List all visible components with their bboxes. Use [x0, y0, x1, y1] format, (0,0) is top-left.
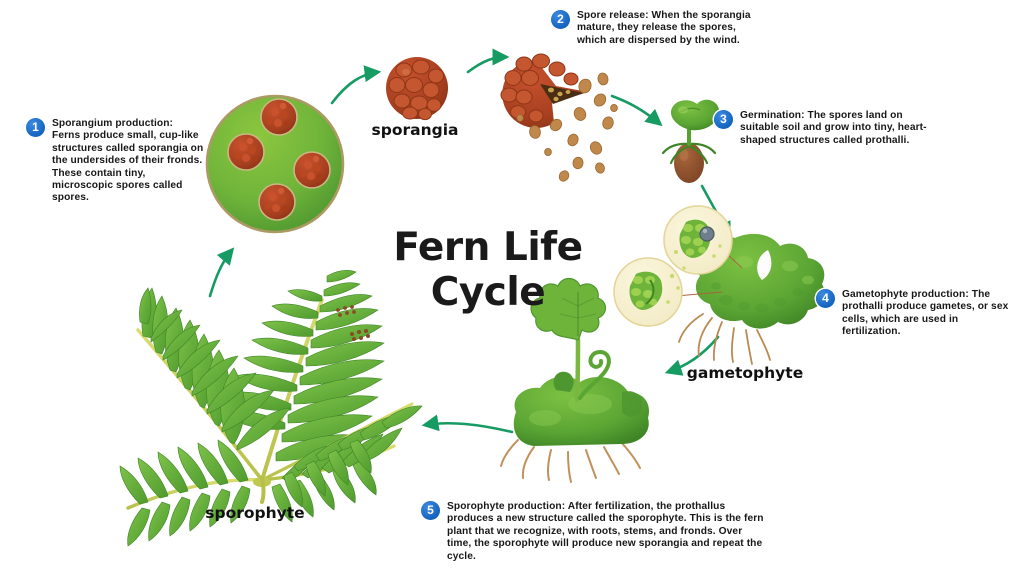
step-text-5: Sporophyte production: After fertilizati…: [447, 501, 765, 563]
step-badge-5: 5: [421, 501, 440, 520]
step-badge-3: 3: [714, 110, 733, 129]
sporangium-open-releasing-spores: [501, 54, 617, 183]
gamete-cell-inset-archegonium: [664, 206, 732, 274]
step-callout-3: 3 Germination: The spores land on suitab…: [714, 110, 936, 147]
page-title: Fern Life Cycle: [343, 225, 633, 315]
arrow-frond-to-sporangia: [332, 72, 378, 103]
sorus-cluster: [261, 99, 297, 135]
arrow-sporangia-to-release: [468, 57, 506, 72]
label-gametophyte: gametophyte: [675, 364, 815, 382]
step-text-2: Spore release: When the sporangia mature…: [577, 10, 765, 47]
sporangium-closed: [386, 57, 448, 120]
frond-underside-magnified: [207, 96, 343, 234]
arrow-fern-to-frond: [210, 250, 232, 296]
step-callout-1: 1 Sporangium production: Ferns produce s…: [26, 118, 208, 205]
step-text-1: Sporangium production: Ferns produce sma…: [52, 118, 204, 205]
step-badge-2: 2: [551, 10, 570, 29]
arrow-sporophyte-to-fern: [425, 423, 512, 432]
label-sporangia: sporangia: [355, 121, 475, 139]
sorus-cluster: [294, 152, 330, 188]
frond: [120, 440, 262, 546]
germinating-spore: [663, 100, 719, 183]
step-callout-4: 4 Gametophyte production: The prothalli …: [816, 289, 1016, 339]
step-text-3: Germination: The spores land on suitable…: [740, 110, 936, 147]
sorus-cluster: [228, 134, 264, 170]
fern-life-cycle-diagram: Fern Life Cycle sporangia gametophyte sp…: [0, 0, 1024, 568]
step-text-4: Gametophyte production: The prothalli pr…: [842, 289, 1016, 339]
step-callout-2: 2 Spore release: When the sporangia matu…: [551, 10, 766, 47]
sorus-cluster: [259, 184, 295, 220]
step-badge-4: 4: [816, 289, 835, 308]
step-badge-1: 1: [26, 118, 45, 137]
gametophyte-prothallus: [614, 206, 824, 364]
step-callout-5: 5 Sporophyte production: After fertiliza…: [421, 501, 766, 563]
arrow-release-to-germination: [612, 96, 660, 124]
label-sporophyte: sporophyte: [190, 504, 320, 522]
